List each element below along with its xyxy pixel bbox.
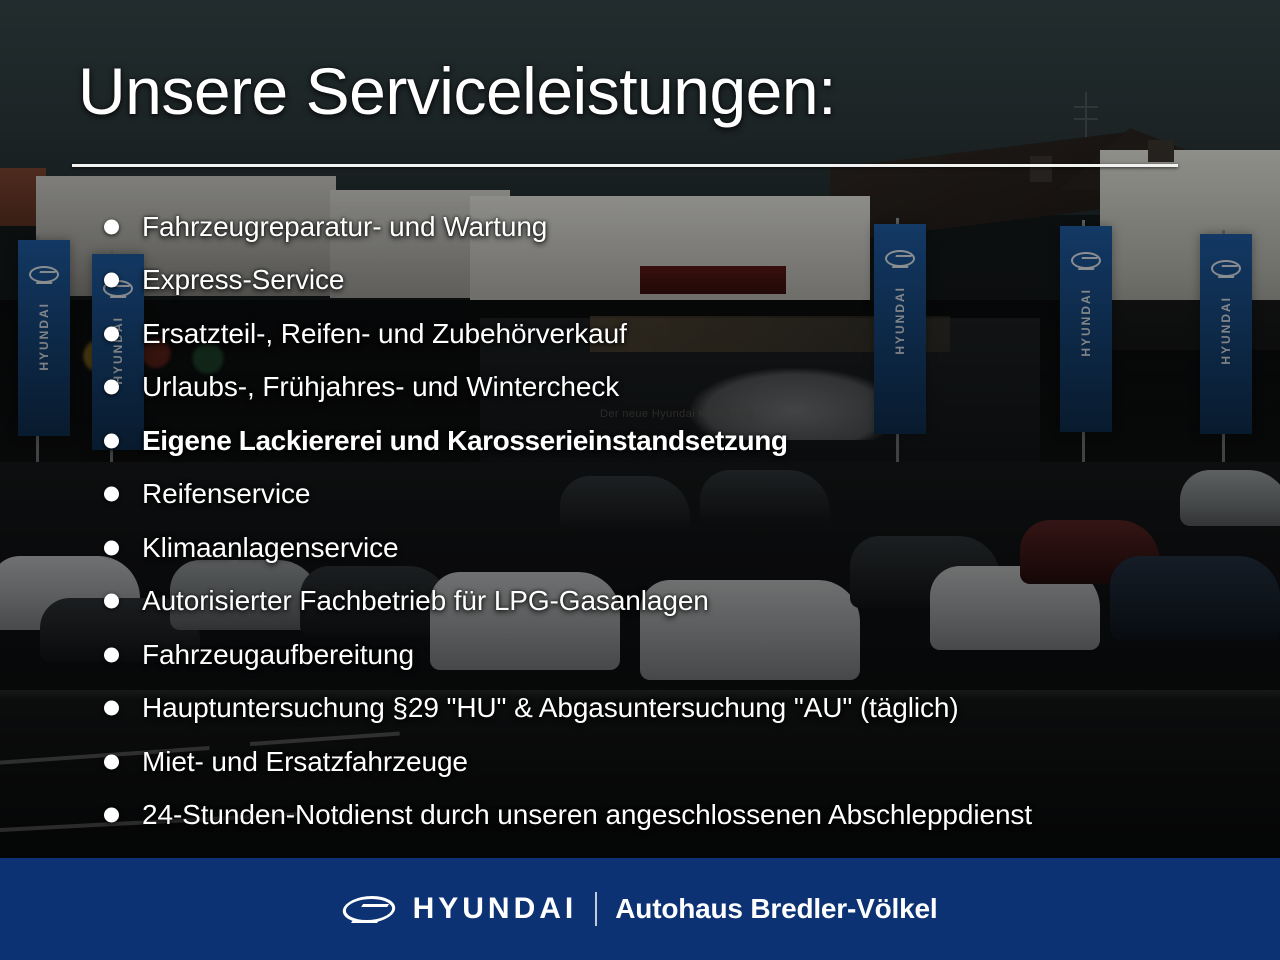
bullet-icon — [104, 647, 119, 662]
bullet-icon — [104, 487, 119, 502]
list-item: Klimaanlagenservice — [100, 521, 1240, 575]
list-item-label: Express-Service — [142, 264, 344, 296]
list-item-label: Miet- und Ersatzfahrzeuge — [142, 746, 468, 778]
list-item-label: Fahrzeugreparatur- und Wartung — [142, 211, 547, 243]
footer-divider — [595, 892, 597, 926]
list-item: Miet- und Ersatzfahrzeuge — [100, 735, 1240, 789]
footer-brand-group: HYUNDAI Autohaus Bredler-Völkel — [343, 892, 938, 926]
list-item-label: Fahrzeugaufbereitung — [142, 639, 414, 671]
bullet-icon — [104, 273, 119, 288]
hyundai-wordmark: HYUNDAI — [413, 892, 578, 926]
hyundai-logo-icon — [339, 896, 397, 923]
list-item-label: Klimaanlagenservice — [142, 532, 398, 564]
list-item: Autorisierter Fachbetrieb für LPG-Gasanl… — [100, 575, 1240, 629]
list-item: Hauptuntersuchung §29 "HU" & Abgasunters… — [100, 682, 1240, 736]
list-item-label: 24-Stunden-Notdienst durch unseren anges… — [142, 799, 1032, 831]
list-item-label: Ersatzteil-, Reifen- und Zubehörverkauf — [142, 318, 627, 350]
bullet-icon — [104, 808, 119, 823]
list-item-label: Autorisierter Fachbetrieb für LPG-Gasanl… — [142, 585, 709, 617]
list-item-label: Reifenservice — [142, 478, 310, 510]
list-item: 24-Stunden-Notdienst durch unseren anges… — [100, 789, 1240, 843]
bullet-icon — [104, 219, 119, 234]
page-title: Unsere Serviceleistungen: — [78, 58, 836, 124]
bullet-icon — [104, 380, 119, 395]
list-item: Fahrzeugaufbereitung — [100, 628, 1240, 682]
services-list: Fahrzeugreparatur- und Wartung Express-S… — [100, 200, 1240, 842]
list-item: Express-Service — [100, 254, 1240, 308]
list-item-label: Eigene Lackiererei und Karosserieinstand… — [142, 425, 788, 457]
list-item: Eigene Lackiererei und Karosserieinstand… — [100, 414, 1240, 468]
list-item: Reifenservice — [100, 468, 1240, 522]
list-item: Urlaubs-, Frühjahres- und Wintercheck — [100, 361, 1240, 415]
dealer-name: Autohaus Bredler-Völkel — [615, 893, 937, 925]
list-item: Fahrzeugreparatur- und Wartung — [100, 200, 1240, 254]
list-item: Ersatzteil-, Reifen- und Zubehörverkauf — [100, 307, 1240, 361]
slide-content: Unsere Serviceleistungen: Fahrzeugrepara… — [0, 0, 1280, 960]
bullet-icon — [104, 701, 119, 716]
bullet-icon — [104, 594, 119, 609]
bullet-icon — [104, 433, 119, 448]
list-item-label: Hauptuntersuchung §29 "HU" & Abgasunters… — [142, 692, 959, 724]
bullet-icon — [104, 754, 119, 769]
footer-bar: HYUNDAI Autohaus Bredler-Völkel — [0, 858, 1280, 960]
list-item-label: Urlaubs-, Frühjahres- und Wintercheck — [142, 371, 619, 403]
bullet-icon — [104, 540, 119, 555]
slide-root: Der neue Hyundai KONA und HYUNDAI HYUNDA… — [0, 0, 1280, 960]
title-divider — [72, 164, 1178, 167]
bullet-icon — [104, 326, 119, 341]
